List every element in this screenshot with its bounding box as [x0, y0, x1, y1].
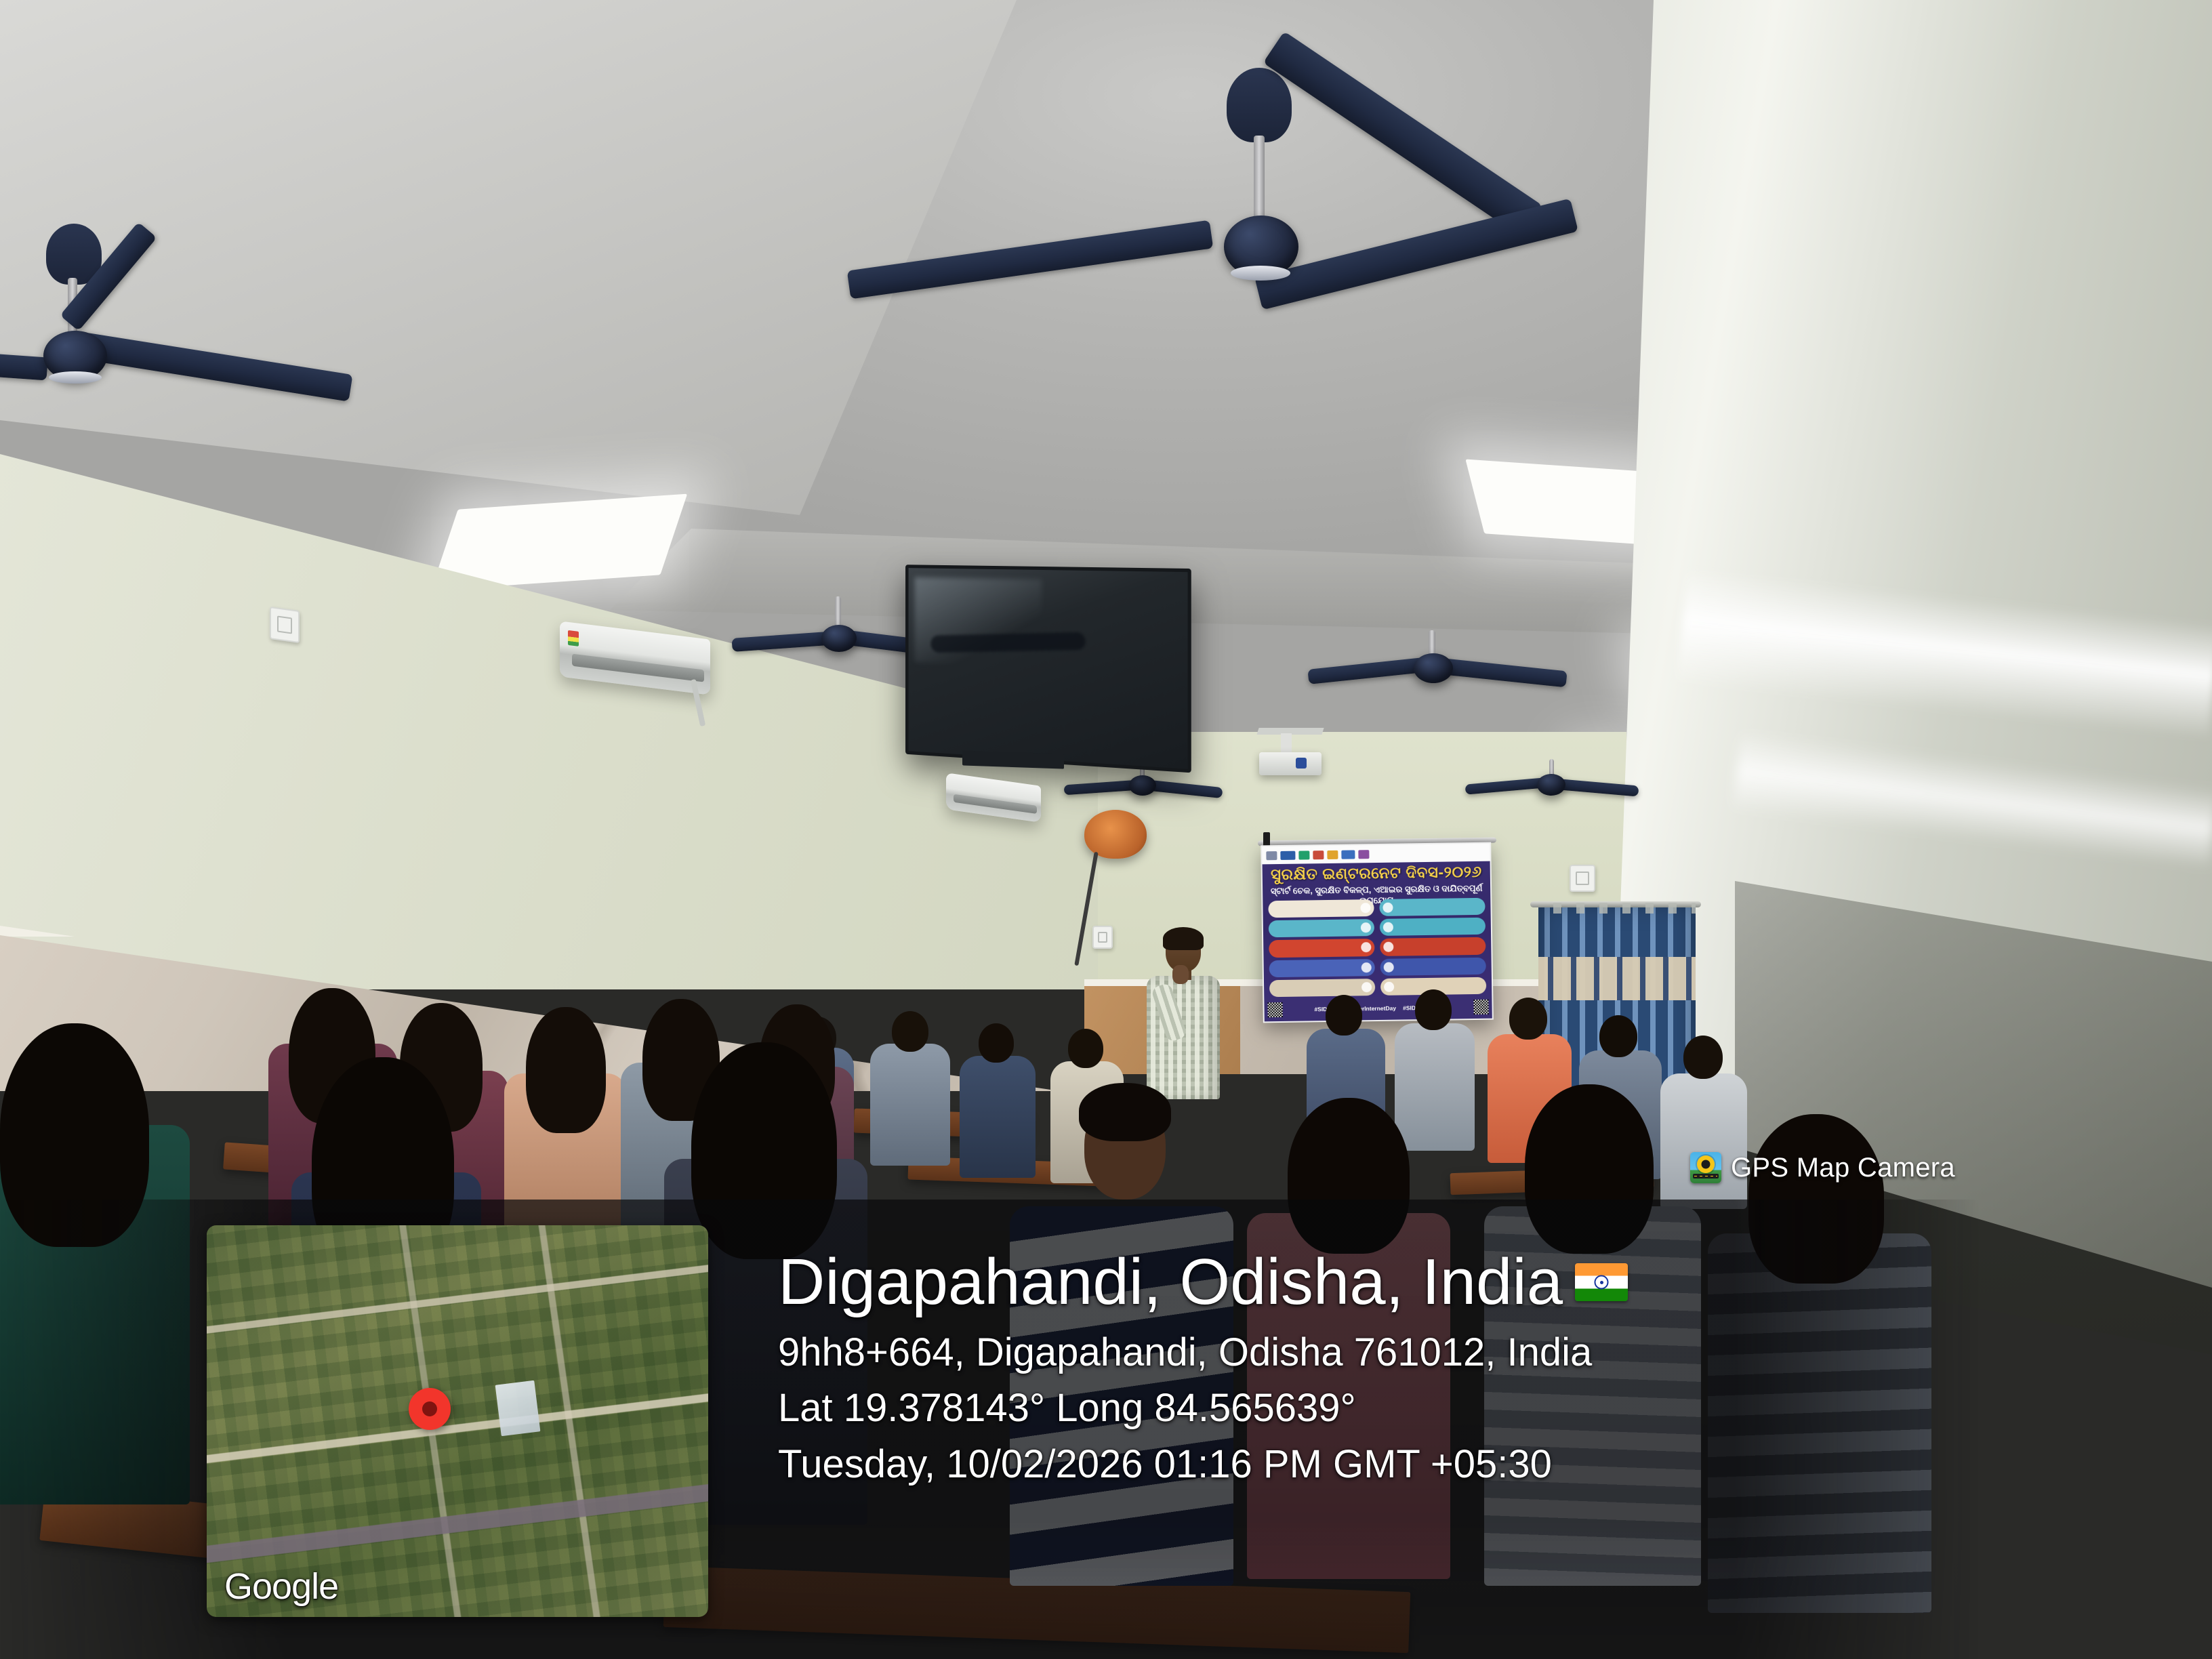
tv-screen-glare: [915, 577, 1042, 668]
person-head: [979, 1023, 1014, 1063]
logo-meity-icon: [1298, 851, 1309, 859]
logo-nic-icon: [1280, 851, 1295, 859]
fan-chrome-ring: [1231, 266, 1290, 281]
banner-tip: [1379, 898, 1485, 916]
photo-canvas: ସୁରକ୍ଷିତ ଇଣ୍ଟରନେଟ ଦିବସ-୨୦୨୬ ସ୍ଟାର୍ଟ ଚେକ,…: [0, 0, 2212, 1659]
qr-code-icon: [1473, 1000, 1488, 1015]
tip-icon: [1361, 982, 1372, 992]
power-socket[interactable]: [1092, 926, 1113, 949]
location-title: Digapahandi, Odisha, India: [778, 1248, 1563, 1317]
ac-air-vent: [954, 794, 1037, 814]
presenter-speaker: [1143, 930, 1224, 1099]
banner-tip-grid: [1268, 898, 1486, 997]
qr-code-icon: [1267, 1002, 1282, 1017]
power-socket[interactable]: [270, 607, 300, 643]
flat-screen-tv: [905, 565, 1191, 773]
banner-tip: [1269, 919, 1374, 937]
map-road-dashes: [1694, 1176, 1717, 1177]
ceiling-projector: [1259, 752, 1322, 775]
banner-tip: [1269, 959, 1375, 977]
safer-internet-day-banner: ସୁରକ୍ଷିତ ଇଣ୍ଟରନେଟ ଦିବସ-୨୦୨୬ ସ୍ଟାର୍ଟ ଚେକ,…: [1261, 842, 1494, 1023]
google-watermark: Google: [224, 1565, 338, 1607]
logo-cert-in-icon: [1313, 851, 1324, 859]
energy-rating-sticker: [568, 630, 579, 647]
person-hair: [526, 1007, 606, 1133]
camera-lens-core: [1702, 1160, 1711, 1169]
person-torso: [870, 1044, 950, 1166]
logo-isea-icon: [1327, 850, 1338, 859]
banner-hashtags: #SID2026 #SaferInternetDay #SIDIndia2026: [1264, 996, 1492, 1022]
tip-icon: [1384, 982, 1394, 992]
location-pin-icon: [400, 1379, 459, 1439]
location-timestamp: Tuesday, 10/02/2026 01:16 PM GMT +05:30: [778, 1437, 1971, 1492]
person-head: [1683, 1036, 1723, 1079]
tip-icon: [1361, 943, 1371, 953]
person-torso: [1660, 1073, 1747, 1209]
fan-canopy: [1227, 68, 1292, 142]
fan-downrod: [1254, 136, 1265, 224]
location-address: 9hh8+664, Digapahandi, Odisha 761012, In…: [778, 1325, 1971, 1380]
projector-lens: [1296, 758, 1307, 769]
banner-tip: [1268, 899, 1374, 918]
banner-tip: [1269, 979, 1375, 997]
logo-emblem-icon: [1266, 851, 1277, 860]
tip-icon: [1384, 962, 1394, 972]
map-building: [495, 1380, 541, 1437]
person-head: [1599, 1015, 1637, 1057]
tip-icon: [1361, 922, 1371, 933]
banner-tip: [1380, 918, 1486, 936]
tip-icon: [1360, 903, 1370, 913]
banner-partner-logos: [1262, 844, 1490, 865]
person-head: [892, 1011, 928, 1052]
gps-map-camera-icon: [1690, 1152, 1721, 1183]
person-torso: [960, 1056, 1036, 1178]
gps-app-watermark: GPS Map Camera: [1690, 1152, 1955, 1183]
presenter-hand: [1172, 965, 1189, 984]
power-socket[interactable]: [1570, 865, 1595, 892]
socket-face: [277, 615, 292, 634]
fan-motor: [1537, 774, 1565, 796]
person-head: [1509, 998, 1547, 1040]
banner-tip: [1380, 937, 1486, 956]
tip-icon: [1361, 962, 1372, 972]
location-title-row: Digapahandi, Odisha, India: [778, 1248, 1971, 1317]
socket-face: [1098, 932, 1108, 943]
tip-icon: [1382, 903, 1393, 913]
tv-fan-reflection: [930, 632, 1086, 653]
logo-ict-icon: [1358, 850, 1369, 859]
person-head: [1326, 995, 1362, 1036]
ashoka-chakra-icon: [1595, 1275, 1609, 1290]
banner-tip: [1269, 939, 1374, 957]
logo-cdac-icon: [1341, 850, 1355, 859]
presenter-hair: [1163, 927, 1204, 950]
fan-motor: [1414, 653, 1453, 683]
fan-chrome-ring: [49, 371, 102, 384]
curtain-rings: [1538, 903, 1696, 914]
banner-tip: [1380, 957, 1486, 975]
curtain-pattern-band: [1538, 957, 1696, 1000]
banner-title: ସୁରକ୍ଷିତ ଇଣ୍ଟରନେଟ ଦିବସ-୨୦୨୬: [1263, 863, 1490, 884]
person-head: [1068, 1029, 1103, 1068]
person-hair: [1079, 1083, 1171, 1141]
fan-motor: [821, 625, 857, 652]
person-head: [1415, 989, 1452, 1030]
tip-icon: [1383, 922, 1393, 933]
wall-mounted-fan: [1084, 810, 1147, 859]
gps-app-name: GPS Map Camera: [1731, 1153, 1955, 1183]
location-coordinates: Lat 19.378143° Long 84.565639°: [778, 1380, 1971, 1436]
map-thumbnail[interactable]: Google: [207, 1225, 708, 1617]
gps-info-block: Digapahandi, Odisha, India 9hh8+664, Dig…: [778, 1248, 1971, 1492]
socket-face: [1576, 872, 1589, 885]
tip-icon: [1383, 942, 1393, 952]
india-flag-icon: [1575, 1263, 1628, 1301]
person-torso: [1395, 1023, 1475, 1151]
fan-motor: [1129, 775, 1156, 796]
ac-air-vent: [572, 653, 704, 682]
